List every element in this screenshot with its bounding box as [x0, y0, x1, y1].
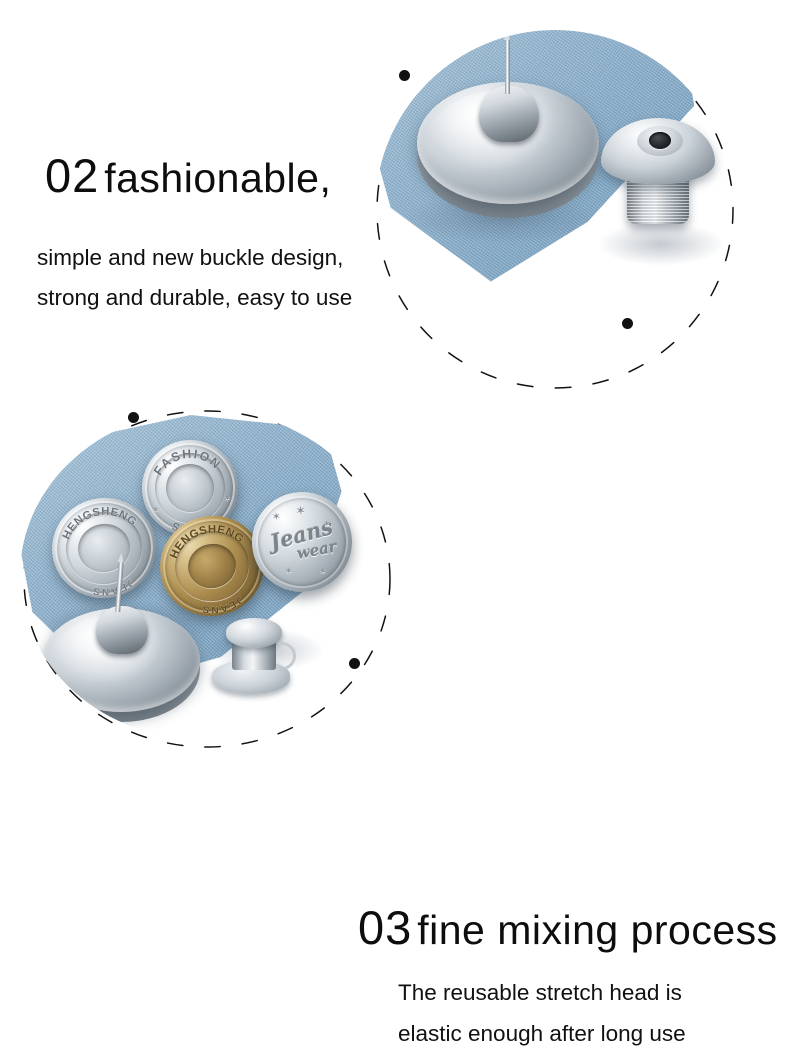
pin-boss [96, 606, 148, 654]
section-03: 03 fine mixing process The reusable stre… [0, 400, 800, 800]
section-03-number: 03 [358, 901, 412, 954]
section-02-description: simple and new buckle design, strong and… [37, 238, 352, 318]
svg-text:HENGSHENG: HENGSHENG [56, 499, 140, 544]
section-02-description-line-2: strong and durable, easy to use [37, 278, 352, 318]
pin-needle [505, 38, 510, 94]
hengsheng-silver-button: HENGSHENG JEANS [43, 488, 166, 607]
button-engraving: HENGSHENG JEANS [43, 488, 166, 607]
star-icon: ✶ [223, 494, 231, 504]
frame-dot-top-left [399, 70, 410, 81]
section-03-description-line-2: elastic enough after long use [398, 1013, 686, 1054]
engraving-fashion: FASHION [149, 443, 225, 479]
photo-clip-bottom: FASHION JEANS ✶ ✶ [20, 410, 390, 740]
section-02-number: 02 [45, 149, 99, 202]
star-icon: ✶ [271, 512, 281, 524]
section-02: 02 fashionable, simple and new buckle de… [0, 0, 800, 400]
section-02-photo [375, 30, 735, 390]
cap-center-hole [649, 132, 671, 149]
star-icon: ✶ [284, 567, 293, 578]
infographic-page: 02 fashionable, simple and new buckle de… [0, 0, 800, 800]
section-03-photo: FASHION JEANS ✶ ✶ [20, 410, 390, 740]
engraving-hengsheng: HENGSHENG [56, 499, 140, 544]
frame-dot-top [128, 412, 139, 423]
pin-boss [479, 86, 539, 142]
section-02-description-line-1: simple and new buckle design, [37, 238, 352, 278]
photo-clip-top [375, 30, 735, 390]
section-02-title: fashionable [104, 155, 319, 201]
section-03-description: The reusable stretch head is elastic eno… [398, 972, 686, 1054]
star-icon: ✶ [295, 504, 307, 518]
star-icon: ✶ [152, 505, 160, 515]
section-02-heading: 02 fashionable, [45, 148, 331, 203]
section-03-heading: 03 fine mixing process [358, 900, 778, 955]
shadow-cap [597, 222, 725, 266]
engraving-hengsheng: HENGSHENG [163, 516, 247, 563]
svg-text:FASHION: FASHION [149, 443, 225, 479]
section-03-description-line-1: The reusable stretch head is [398, 972, 686, 1013]
frame-dot-bottom-right [622, 318, 633, 329]
frame-dot-bottom-right [349, 658, 360, 669]
section-02-title-punctuation: , [319, 155, 331, 201]
star-icon: ✶ [319, 567, 327, 577]
section-03-title: fine mixing process [417, 907, 777, 953]
star-icon: ✶ [323, 519, 331, 529]
svg-text:HENGSHENG: HENGSHENG [163, 516, 247, 563]
